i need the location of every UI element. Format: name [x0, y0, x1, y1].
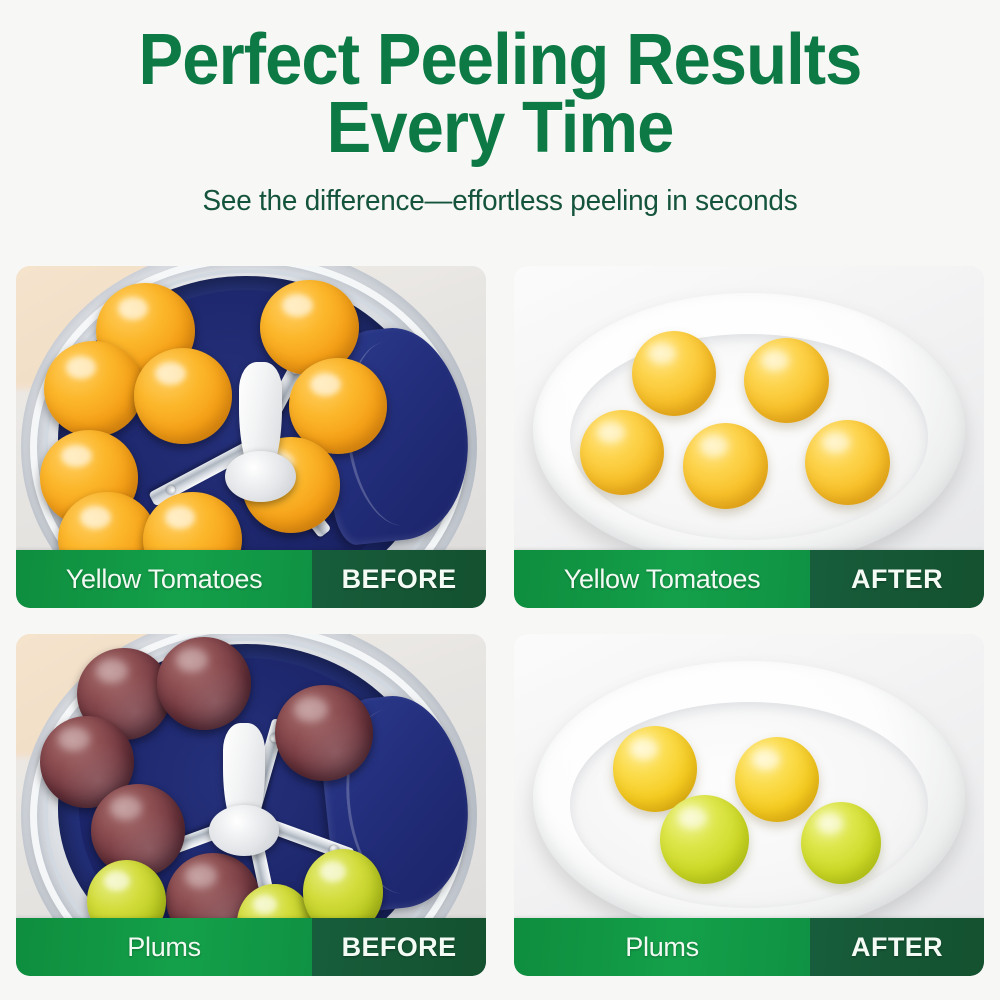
card-label-bar: Plums AFTER [514, 918, 984, 976]
produce-label: Yellow Tomatoes [16, 550, 312, 608]
produce-label: Yellow Tomatoes [514, 550, 810, 608]
fruit-peeled-tomato [744, 338, 829, 424]
product-comparison-infographic: Perfect Peeling Results Every Time See t… [0, 0, 1000, 1000]
comparison-card-plums-before[interactable]: Plums BEFORE [16, 634, 486, 976]
state-badge: AFTER [810, 550, 984, 608]
peeler-hub-base [209, 805, 280, 856]
header: Perfect Peeling Results Every Time See t… [0, 0, 1000, 218]
state-badge: AFTER [810, 918, 984, 976]
fruit-peeled-tomato [683, 423, 768, 509]
comparison-card-yellow-tomatoes-after[interactable]: Yellow Tomatoes AFTER [514, 266, 984, 608]
fruit-tomato [134, 348, 233, 444]
card-label-bar: Plums BEFORE [16, 918, 486, 976]
fruit-peeled-plum [735, 737, 820, 823]
fruit-peeled-tomato [632, 331, 717, 417]
page-subtitle: See the difference—effortless peeling in… [20, 185, 980, 218]
peeler-hub-base [225, 451, 296, 502]
fruit-plum-unpeeled [157, 637, 251, 729]
produce-label: Plums [514, 918, 810, 976]
card-label-bar: Yellow Tomatoes BEFORE [16, 550, 486, 608]
comparison-card-plums-after[interactable]: Plums AFTER [514, 634, 984, 976]
fruit-peeled-plum [801, 802, 881, 884]
state-badge: BEFORE [312, 918, 486, 976]
fruit-plum-unpeeled [275, 685, 374, 781]
fruit-peeled-plum [660, 795, 749, 884]
fruit-tomato [44, 341, 143, 437]
page-title: Perfect Peeling Results Every Time [35, 26, 965, 163]
comparison-card-yellow-tomatoes-before[interactable]: Yellow Tomatoes BEFORE [16, 266, 486, 608]
produce-label: Plums [16, 918, 312, 976]
state-badge: BEFORE [312, 550, 486, 608]
comparison-grid: Yellow Tomatoes BEFORE Yellow Tomatoes [16, 266, 984, 976]
card-label-bar: Yellow Tomatoes AFTER [514, 550, 984, 608]
headline-line-2: Every Time [35, 94, 965, 162]
fruit-peeled-tomato [580, 410, 665, 496]
fruit-peeled-tomato [805, 420, 890, 506]
